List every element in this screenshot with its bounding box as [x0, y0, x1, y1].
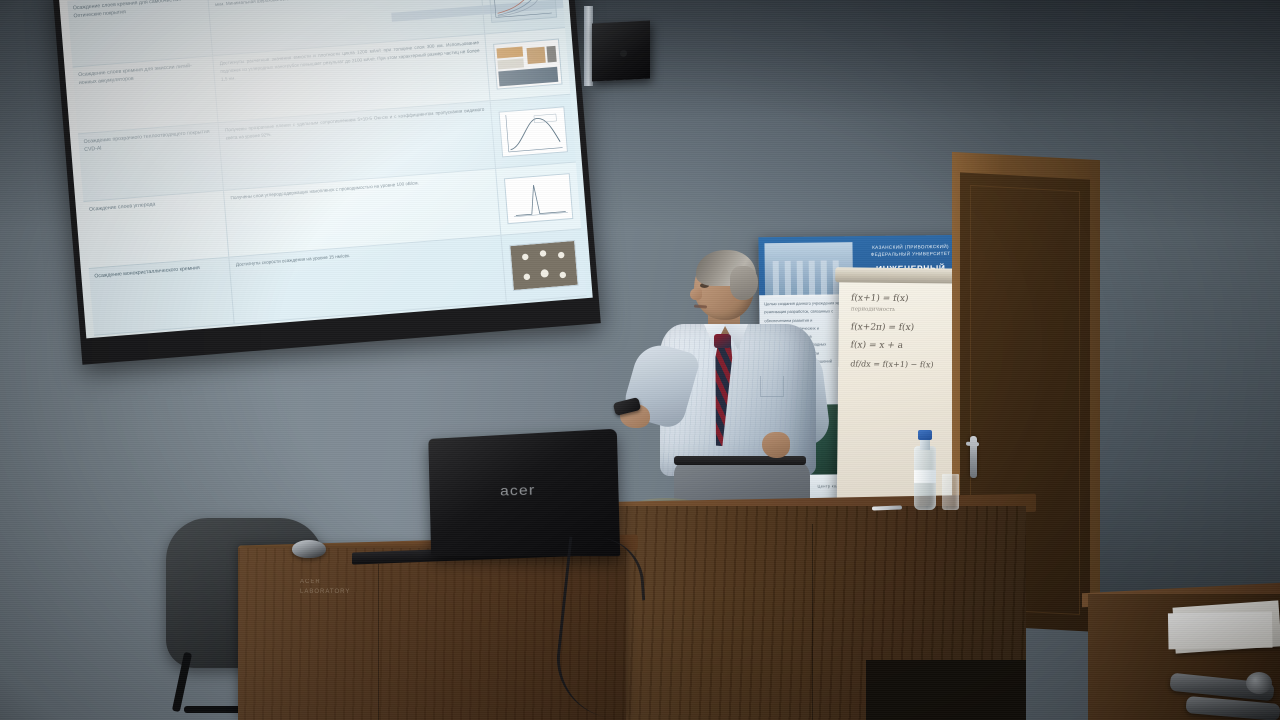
- presenter-belt: [674, 456, 806, 465]
- projected-slide: Осаждение слоев кремния для самоочистки.…: [58, 0, 593, 338]
- row-thumbnail: [501, 229, 586, 301]
- bottle-cap-icon[interactable]: [918, 430, 932, 440]
- equation-note: периодичность: [850, 307, 967, 315]
- banner-line2: ФЕДЕРАЛЬНЫЙ УНИВЕРСИТЕТ: [871, 251, 951, 257]
- acer-logo-icon: acer: [500, 482, 536, 499]
- shirt-pocket: [760, 376, 784, 397]
- row-thumbnail: [485, 28, 570, 100]
- presenter-right-hand: [762, 432, 790, 458]
- wall-speaker-icon: [592, 20, 650, 81]
- computer-mouse-icon[interactable]: [292, 540, 326, 558]
- ceiling-shadow: [560, 0, 1280, 120]
- equation-line: f(x+2π) = f(x): [850, 323, 967, 335]
- peak-chart-icon: [504, 173, 573, 224]
- curve-chart-icon: [498, 106, 567, 157]
- row-topic: Осаждение прозрачного теплоотводящего по…: [78, 123, 224, 200]
- necktie-knot: [714, 334, 731, 348]
- line-chart-icon: [488, 0, 557, 23]
- row-thumbnail: [491, 95, 576, 167]
- presenter: [612, 250, 852, 540]
- laptop[interactable]: acer: [428, 429, 620, 557]
- bottle-label: [914, 470, 936, 483]
- paper-stack-icon[interactable]: [1173, 600, 1280, 653]
- presenter-nose: [690, 288, 702, 300]
- banner-line1: КАЗАНСКИЙ (ПРИВОЛЖСКИЙ): [872, 244, 949, 250]
- lecture-hall-scene: Осаждение слоев кремния для самоочистки.…: [0, 0, 1280, 720]
- lectern-seam: [378, 564, 379, 720]
- row-thumbnail: [496, 162, 581, 234]
- presenter-hair-back: [730, 266, 758, 300]
- equation-line: df/dx = f(x+1) − f(x): [850, 359, 967, 370]
- door-handle-icon[interactable]: [970, 436, 977, 478]
- table-seam: [812, 524, 813, 720]
- micrograph-icon: [509, 240, 578, 291]
- drinking-glass-icon[interactable]: [942, 474, 959, 510]
- slide-table: Осаждение слоев кремния для самоочистки.…: [67, 0, 586, 336]
- presenter-mouth: [694, 305, 707, 309]
- lectern-label: ACERLABORATORY: [300, 578, 350, 597]
- row-topic: Осаждение слоев кремния для эмиссии лити…: [73, 57, 219, 134]
- sample-swatch-icon: [493, 39, 562, 90]
- row-topic: Осаждение слоев углерода: [83, 190, 229, 267]
- row-topic: Осаждение монокристаллического кремния: [89, 257, 235, 334]
- equation-line: f(x+1) = f(x): [850, 293, 967, 305]
- banner-university-name: КАЗАНСКИЙ (ПРИВОЛЖСКИЙ) ФЕДЕРАЛЬНЫЙ УНИВ…: [856, 244, 964, 259]
- microphone-head-icon[interactable]: [1246, 672, 1272, 694]
- table-under-shadow: [866, 660, 1026, 720]
- row-topic: Осаждение слоев кремния для самоочистки.…: [67, 0, 213, 67]
- projection-screen: Осаждение слоев кремния для самоочистки.…: [52, 0, 601, 365]
- flipchart-equations: f(x+1) = f(x) периодичность f(x+2π) = f(…: [850, 293, 967, 377]
- equation-line: f(x) = x + a: [850, 341, 967, 353]
